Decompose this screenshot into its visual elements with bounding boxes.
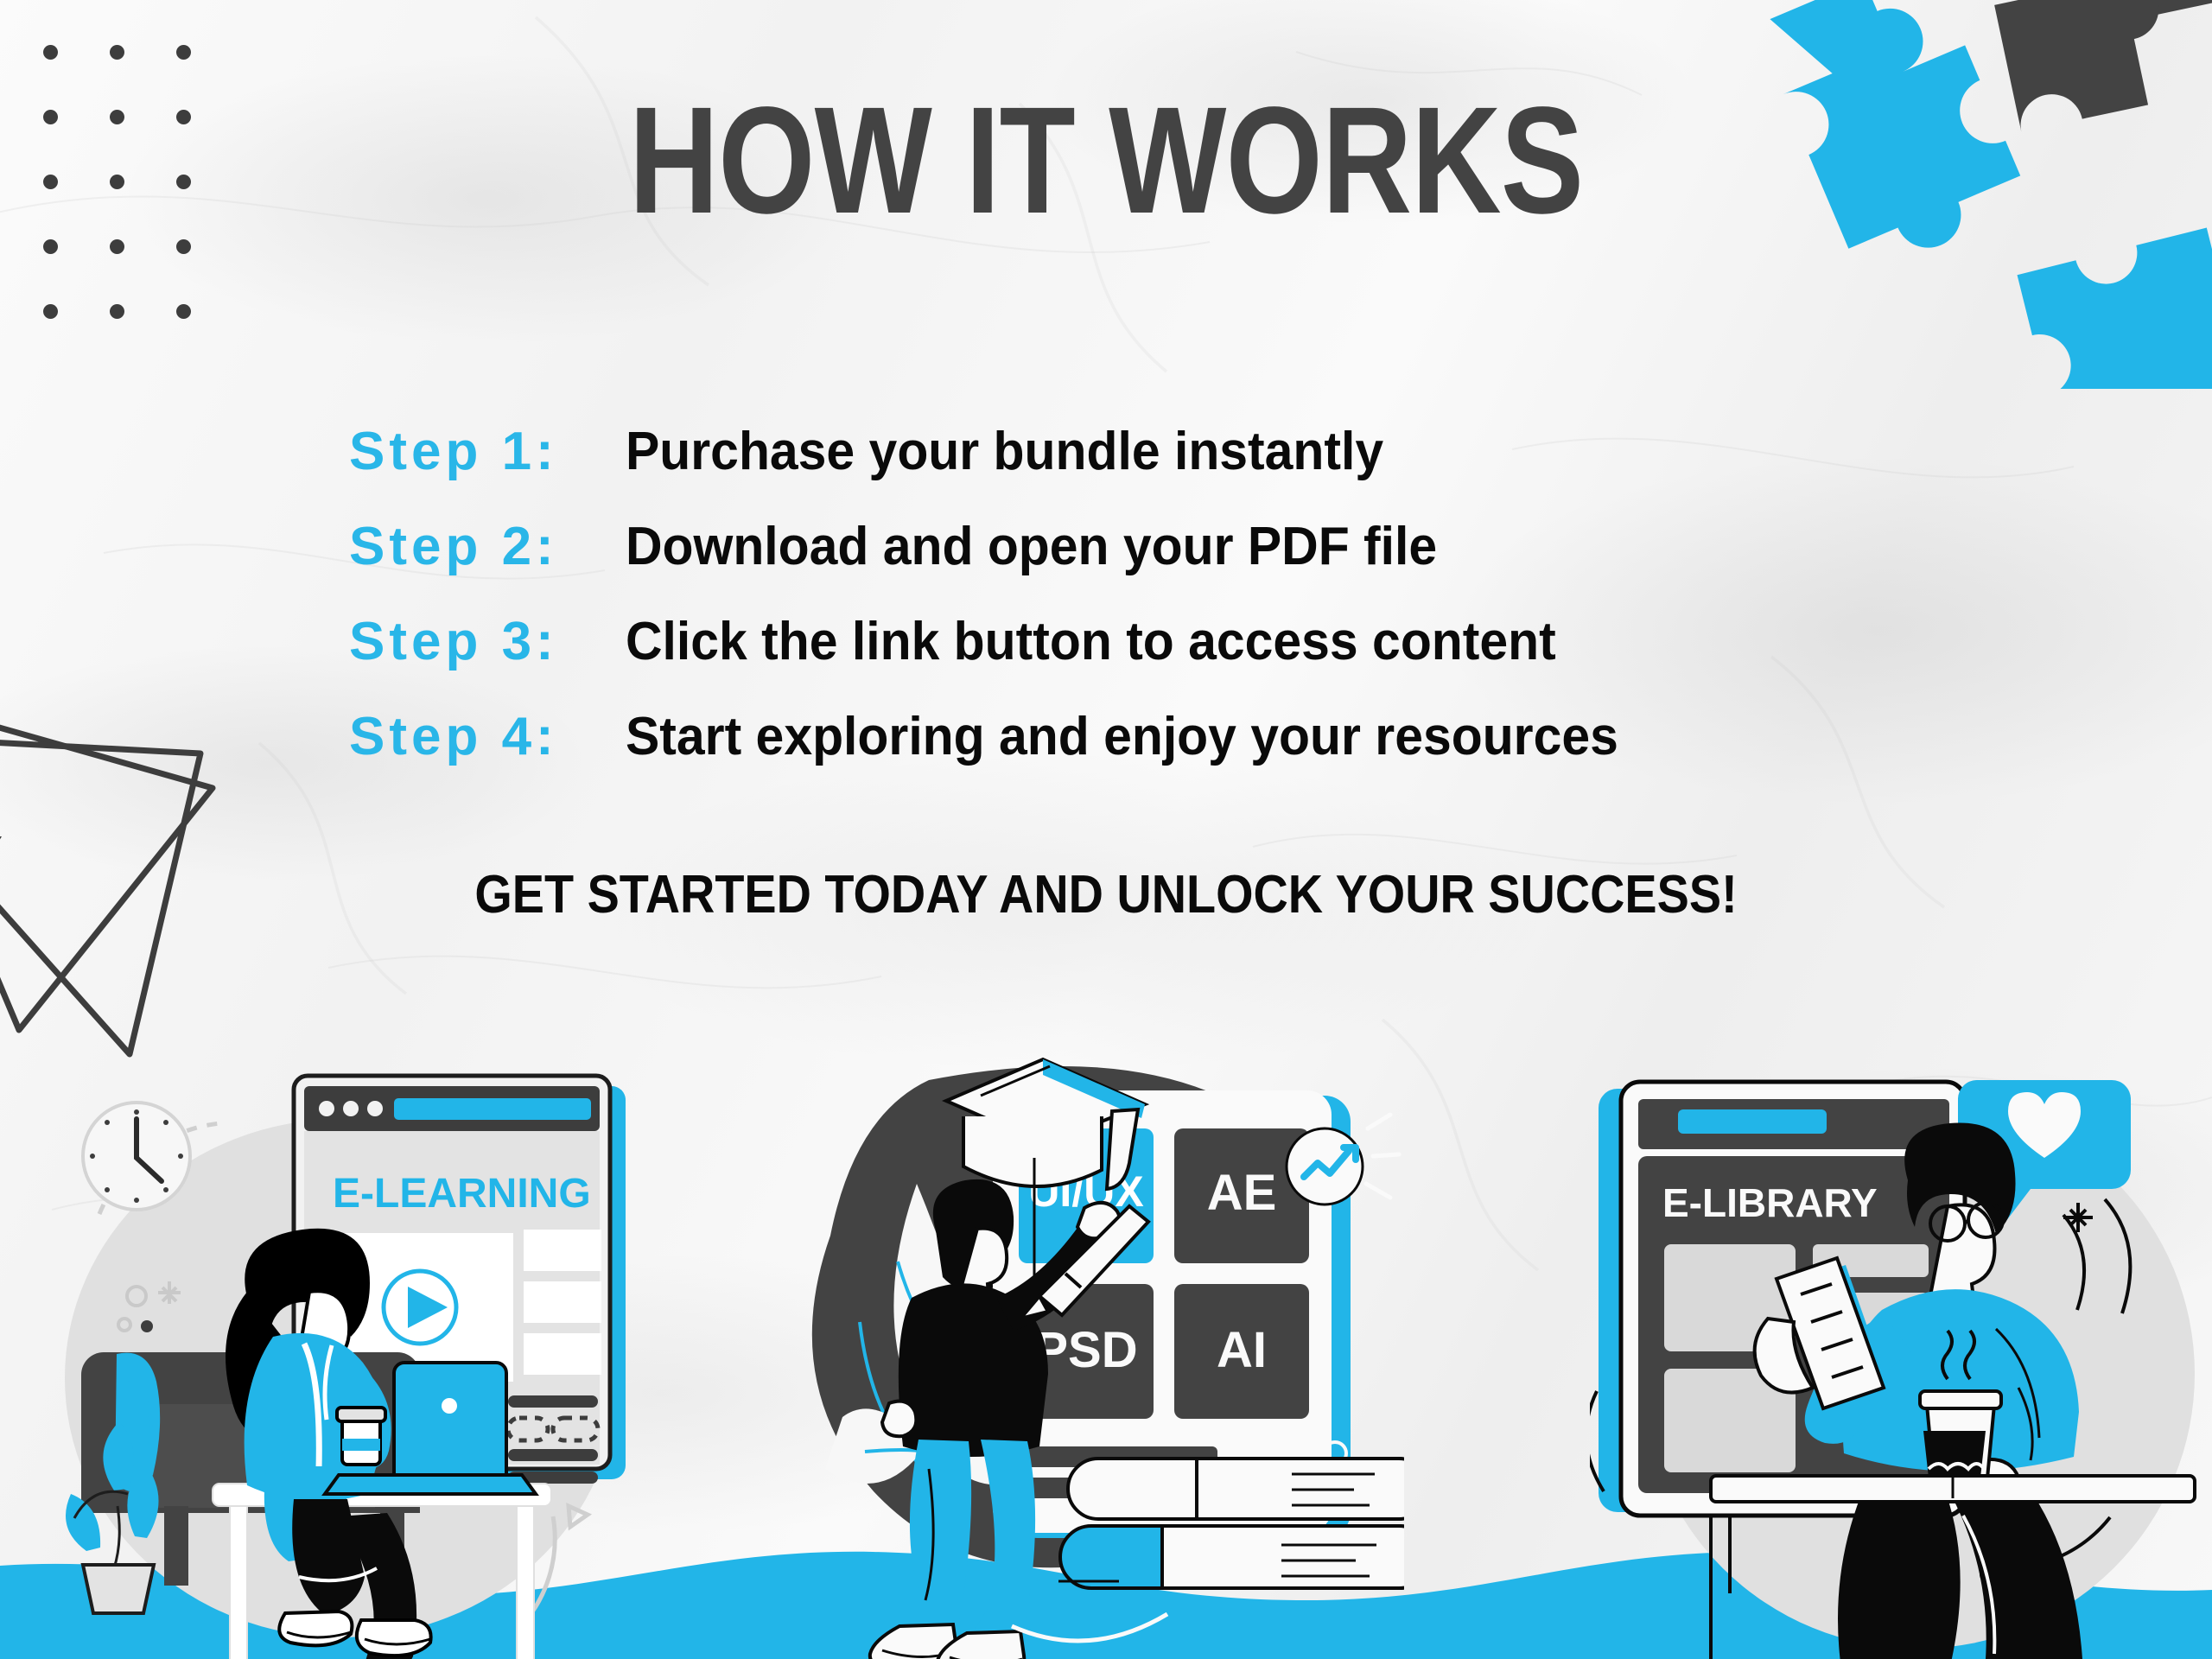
illustration-courses: UI/UX AE PSD AI bbox=[808, 1046, 1404, 1659]
poster-canvas: HOW IT WORKS Step 1: Purchase your bundl… bbox=[0, 0, 2212, 1659]
dot bbox=[110, 45, 124, 60]
desk-icon bbox=[1711, 1476, 2195, 1502]
e-library-label: E-LIBRARY bbox=[1662, 1180, 1878, 1225]
dot bbox=[43, 304, 58, 319]
triangle-filled bbox=[0, 834, 2, 1071]
arc-arrow-icon bbox=[569, 1506, 588, 1527]
dot bbox=[43, 239, 58, 254]
step-1-label: Step 1: bbox=[349, 421, 626, 482]
coffee-cup-icon bbox=[337, 1408, 385, 1465]
dot bbox=[110, 175, 124, 189]
shoe-icon bbox=[357, 1620, 431, 1656]
steps-list: Step 1: Purchase your bundle instantly S… bbox=[349, 421, 1670, 801]
cta-text: GET STARTED TODAY AND UNLOCK YOUR SUCCES… bbox=[111, 864, 2101, 925]
step-2-text: Download and open your PDF file bbox=[626, 516, 1437, 577]
dot bbox=[176, 45, 191, 60]
tile-ae-label: AE bbox=[1207, 1165, 1277, 1221]
dot bbox=[176, 175, 191, 189]
floor-arc bbox=[1012, 1614, 1167, 1641]
e-learning-label: E-LEARNING bbox=[333, 1171, 591, 1217]
step-3-text: Click the link button to access content bbox=[626, 611, 1556, 672]
dot bbox=[43, 45, 58, 60]
dot bbox=[43, 110, 58, 124]
step-3-label: Step 3: bbox=[349, 611, 626, 672]
shoe-icon bbox=[279, 1611, 352, 1645]
dot bbox=[110, 110, 124, 124]
step-row-4: Step 4: Start exploring and enjoy your r… bbox=[349, 706, 1670, 801]
dot bbox=[176, 110, 191, 124]
step-4-text: Start exploring and enjoy your resources bbox=[626, 706, 1618, 767]
dot-decor bbox=[141, 1320, 153, 1332]
illustration-e-library: E-LIBRARY bbox=[1590, 1046, 2212, 1659]
illustration-e-learning: E-LEARNING bbox=[35, 1033, 691, 1659]
tile-psd-label: PSD bbox=[1034, 1322, 1137, 1378]
tile-ai-label: AI bbox=[1217, 1322, 1267, 1378]
dot bbox=[176, 239, 191, 254]
step-4-label: Step 4: bbox=[349, 706, 626, 767]
dot bbox=[110, 239, 124, 254]
step-row-1: Step 1: Purchase your bundle instantly bbox=[349, 421, 1670, 516]
triangles-decoration bbox=[0, 639, 285, 1071]
clock-icon bbox=[83, 1103, 190, 1210]
step-row-2: Step 2: Download and open your PDF file bbox=[349, 516, 1670, 611]
step-row-3: Step 3: Click the link button to access … bbox=[349, 611, 1670, 706]
dot bbox=[176, 304, 191, 319]
dot bbox=[110, 304, 124, 319]
step-1-text: Purchase your bundle instantly bbox=[626, 421, 1383, 482]
dot bbox=[43, 175, 58, 189]
page-title: HOW IT WORKS bbox=[199, 85, 2012, 237]
step-2-label: Step 2: bbox=[349, 516, 626, 577]
puzzle-piece-cyan-right bbox=[2018, 220, 2212, 389]
